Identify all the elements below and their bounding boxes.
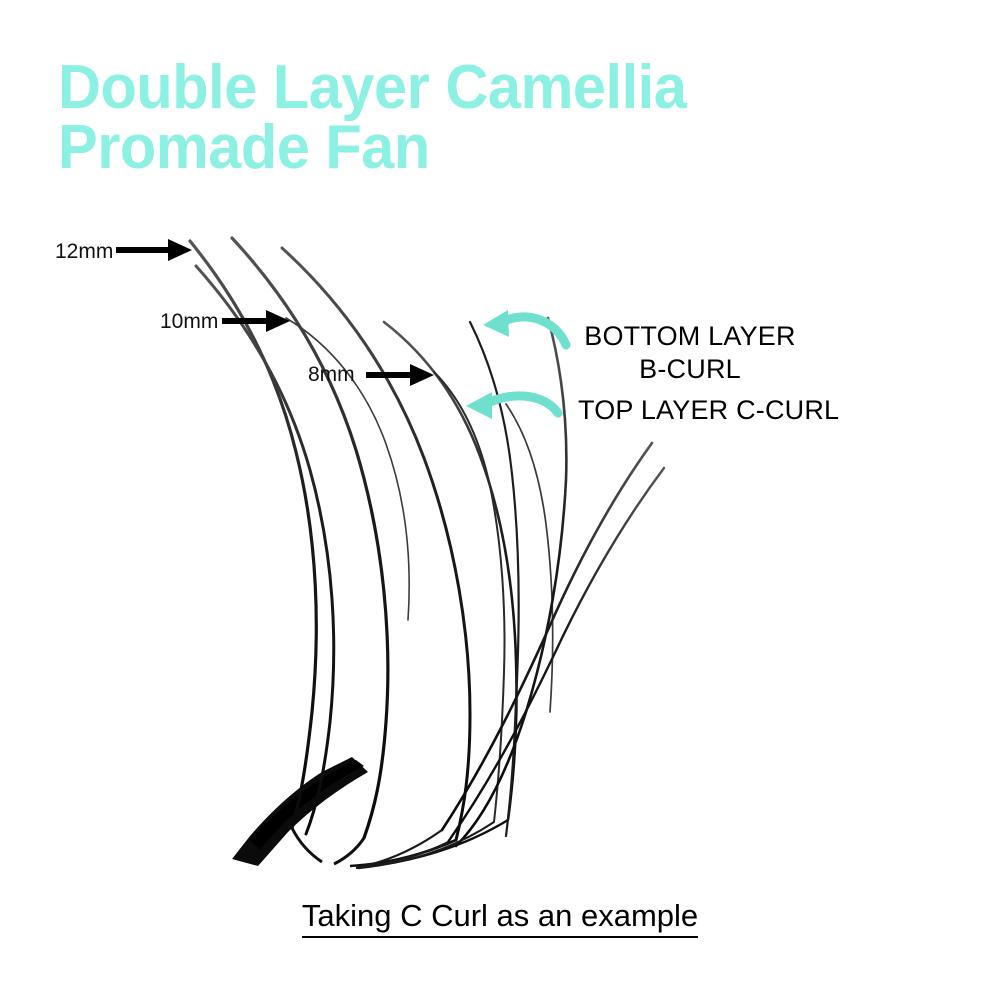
curl-arrow-bottom-layer bbox=[483, 310, 566, 345]
measure-arrow-12mm bbox=[116, 239, 192, 261]
lash-strand-7 bbox=[470, 322, 519, 836]
lash-strand-6 bbox=[384, 322, 517, 820]
title-line-2: Promade Fan bbox=[58, 118, 826, 178]
lash-strand-10 bbox=[456, 318, 566, 846]
lash-strand-12 bbox=[448, 468, 664, 842]
lash-strand-2 bbox=[196, 266, 334, 834]
bottom-caption-text: Taking C Curl as an example bbox=[302, 898, 698, 938]
callout-bottom-layer: BOTTOM LAYER B-CURL bbox=[575, 320, 805, 386]
dimension-label-10mm: 10mm bbox=[160, 310, 218, 334]
dimension-label-8mm: 8mm bbox=[308, 363, 355, 387]
curl-arrow-top-layer bbox=[466, 392, 558, 419]
page-title: Double Layer Camellia Promade Fan bbox=[58, 58, 858, 177]
title-line-1: Double Layer Camellia bbox=[58, 58, 826, 118]
measure-arrow-10mm bbox=[222, 310, 290, 332]
callout-top-layer: TOP LAYER C-CURL bbox=[578, 395, 839, 426]
callout-bottom-layer-line1: BOTTOM LAYER bbox=[575, 320, 805, 353]
dimension-label-12mm: 12mm bbox=[55, 240, 113, 264]
lash-strand-11 bbox=[442, 443, 652, 830]
infographic-canvas: Double Layer Camellia Promade Fan 12mm 1… bbox=[0, 0, 1000, 1000]
bottom-caption: Taking C Curl as an example bbox=[0, 898, 1000, 934]
lash-strand-8 bbox=[434, 372, 504, 822]
measure-arrow-8mm bbox=[366, 364, 434, 386]
lash-strand-5 bbox=[282, 248, 470, 840]
lash-strand-3 bbox=[232, 238, 388, 838]
callout-bottom-layer-line2: B-CURL bbox=[575, 353, 805, 386]
fan-convergence-tails bbox=[292, 820, 508, 868]
lash-strand-9 bbox=[506, 404, 553, 712]
fan-base-root bbox=[232, 757, 368, 866]
